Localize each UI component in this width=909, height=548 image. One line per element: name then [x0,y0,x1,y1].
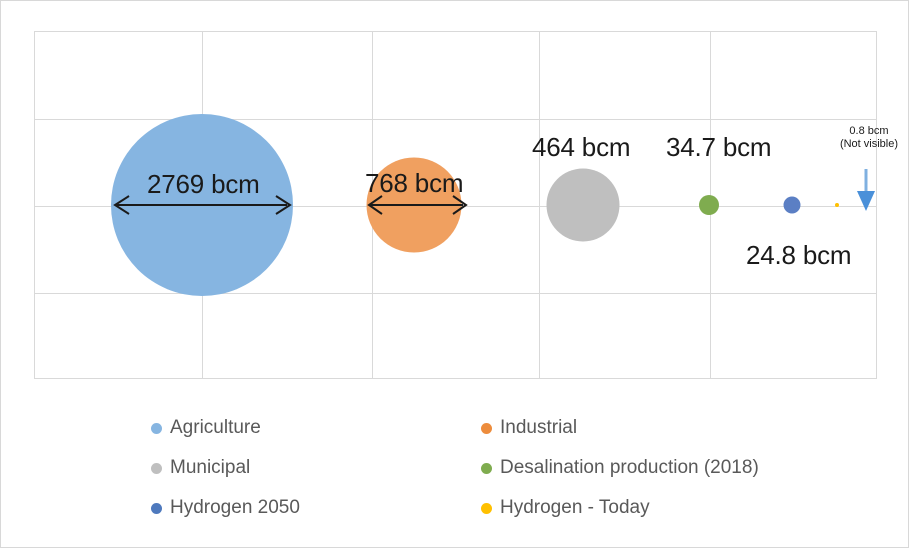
legend-item-agriculture[interactable]: Agriculture [151,417,261,439]
gridline-vertical [539,32,540,378]
chart-legend: Agriculture Industrial Municipal Desalin… [151,409,851,529]
value-label-industrial: 768 bcm [365,168,463,198]
callout-line-1: 0.8 bcm [829,125,909,138]
bubble-hydrogen-2050[interactable] [784,197,801,214]
bubble-desalination-production[interactable] [699,195,719,215]
gridline-horizontal [35,119,876,120]
legend-label: Agriculture [170,417,261,439]
legend-item-municipal[interactable]: Municipal [151,457,250,479]
legend-label: Municipal [170,457,250,479]
legend-marker-icon [481,423,492,434]
legend-item-industrial[interactable]: Industrial [481,417,577,439]
value-label-hydrogen-2050: 24.8 bcm [746,240,851,270]
bubble-agriculture[interactable] [111,114,293,296]
bubble-hydrogen-today[interactable] [835,203,839,207]
legend-item-hydrogen-2050[interactable]: Hydrogen 2050 [151,497,300,519]
legend-label: Hydrogen - Today [500,497,650,519]
legend-item-hydrogen-today[interactable]: Hydrogen - Today [481,497,650,519]
value-label-desalination: 34.7 bcm [666,132,771,162]
legend-marker-icon [481,463,492,474]
legend-marker-icon [151,423,162,434]
legend-marker-icon [481,503,492,514]
legend-marker-icon [151,503,162,514]
value-label-municipal: 464 bcm [532,132,630,162]
legend-label: Desalination production (2018) [500,457,759,479]
legend-item-desalination-production[interactable]: Desalination production (2018) [481,457,759,479]
bubble-municipal[interactable] [547,169,620,242]
callout-line-2: (Not visible) [829,138,909,151]
legend-label: Hydrogen 2050 [170,497,300,519]
legend-marker-icon [151,463,162,474]
value-label-hydrogen-today: 0.8 bcm (Not visible) [829,125,909,151]
gridline-horizontal [35,293,876,294]
value-label-agriculture: 2769 bcm [147,169,260,199]
legend-label: Industrial [500,417,577,439]
bubble-chart: 2769 bcm 768 bcm 464 bcm 34.7 bcm 24.8 b… [0,0,909,548]
